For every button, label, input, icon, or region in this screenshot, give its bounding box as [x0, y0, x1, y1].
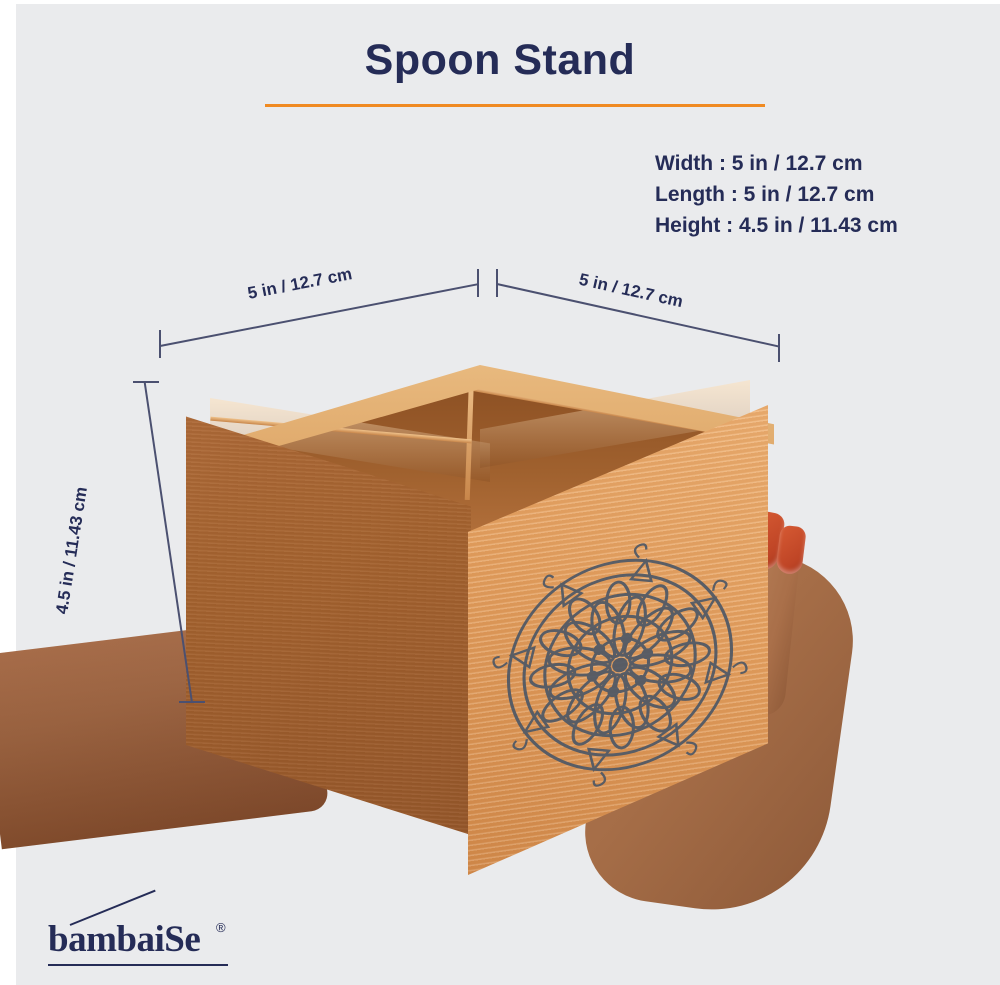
- dimension-tick-left-outer: [159, 330, 161, 358]
- logo-underline: [48, 964, 228, 966]
- dimension-tick-height-bottom: [179, 701, 205, 703]
- wooden-spoon-stand: [150, 310, 800, 930]
- dimension-spec-list: Width : 5 in / 12.7 cm Length : 5 in / 1…: [655, 148, 898, 241]
- spec-width: Width : 5 in / 12.7 cm: [655, 148, 898, 179]
- brand-logo: bambaiSe ®: [48, 920, 200, 960]
- spec-length: Length : 5 in / 12.7 cm: [655, 179, 898, 210]
- registered-trademark-mark: ®: [216, 920, 226, 935]
- dimension-tick-top-right-inner: [496, 269, 498, 297]
- product-spec-image: Spoon Stand Width : 5 in / 12.7 cm Lengt…: [0, 0, 1000, 985]
- dimension-tick-top-left-inner: [477, 269, 479, 297]
- page-title: Spoon Stand: [0, 36, 1000, 85]
- title-underline-rule: [265, 104, 765, 107]
- dimension-tick-right-outer: [778, 334, 780, 362]
- product-photo: [0, 250, 1000, 910]
- top-edge-strip: [0, 0, 1000, 4]
- spec-height: Height : 4.5 in / 11.43 cm: [655, 210, 898, 241]
- brand-name: bambaiSe: [48, 920, 200, 960]
- dimension-tick-height-top: [133, 381, 159, 383]
